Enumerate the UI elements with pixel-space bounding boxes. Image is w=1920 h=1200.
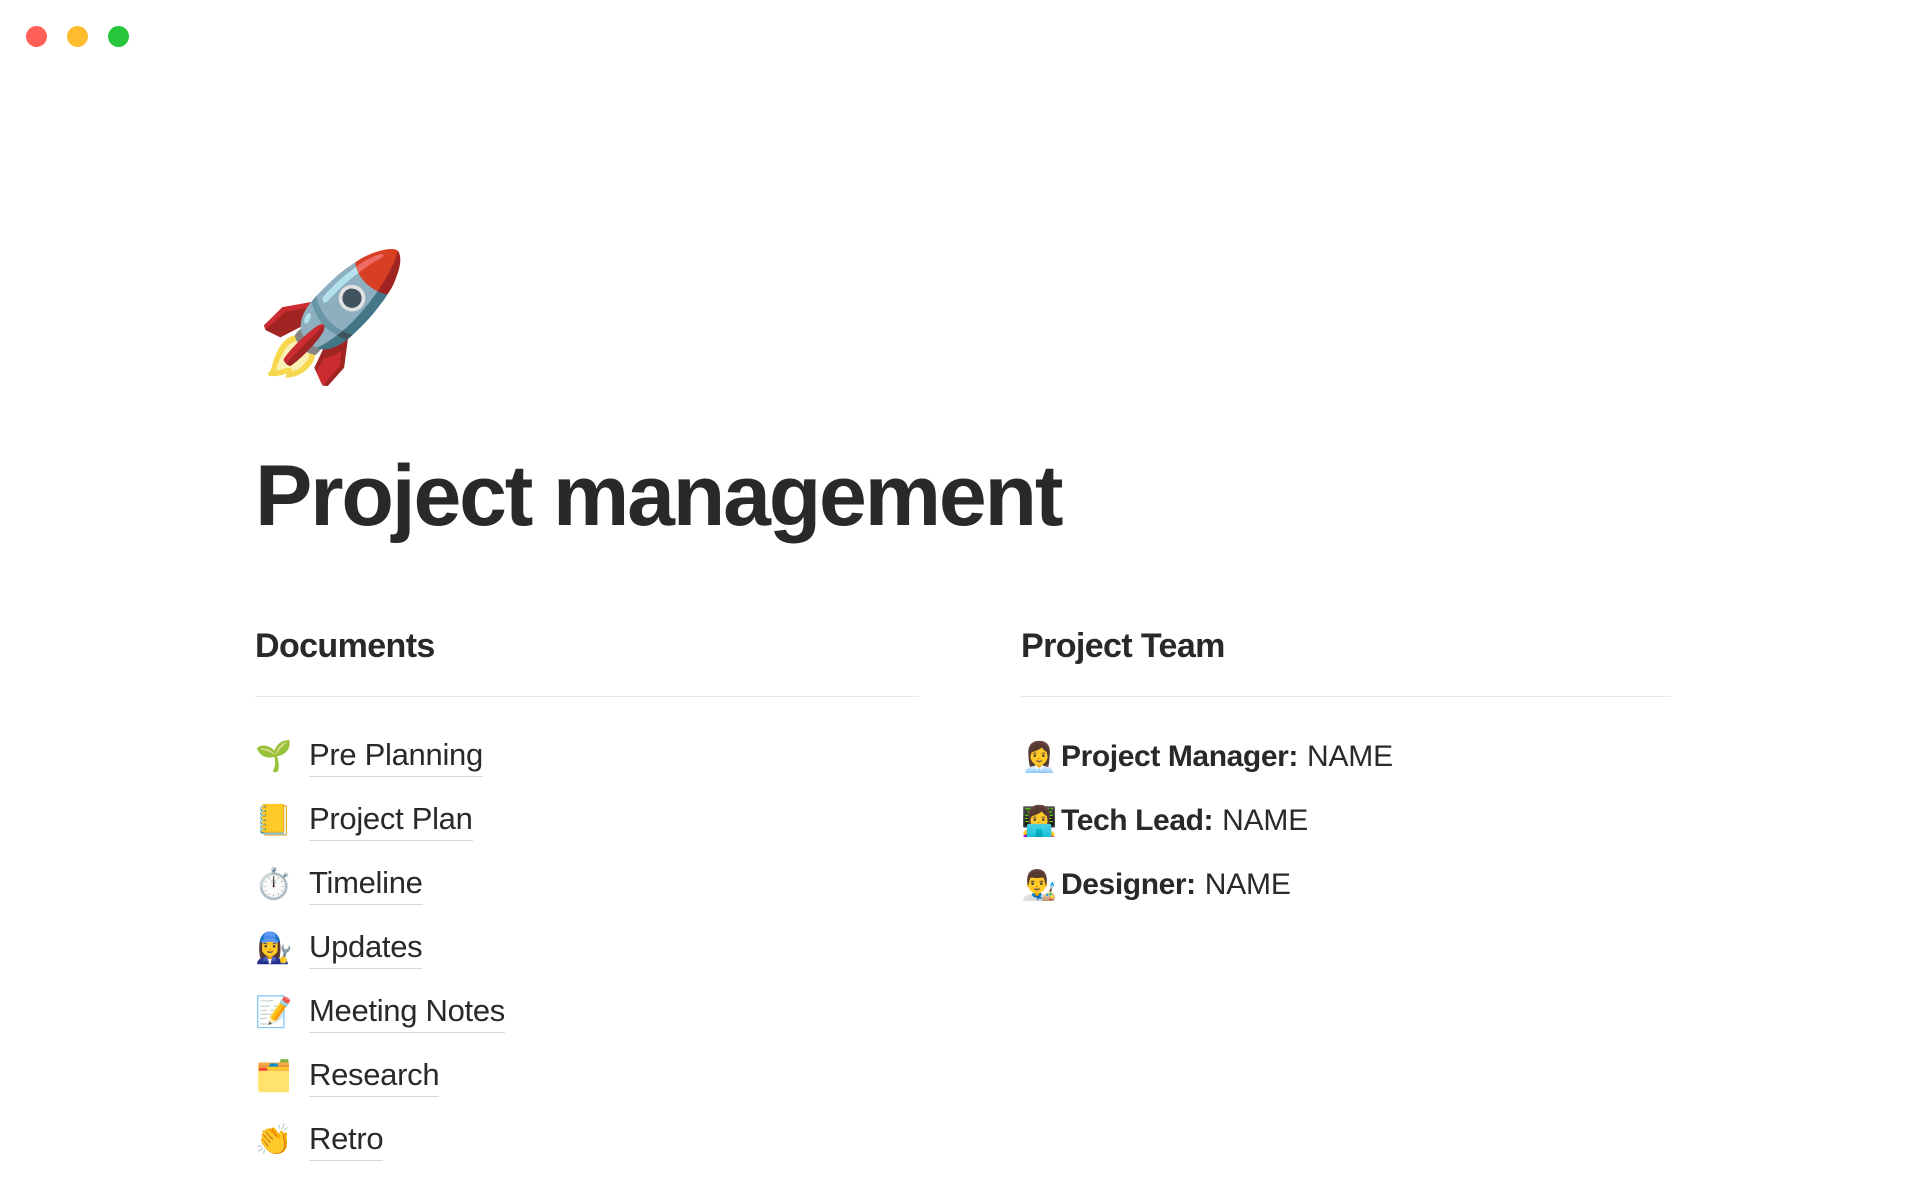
team-member-name[interactable]: NAME [1298,740,1393,774]
document-link-item[interactable]: 🗂️Research [255,1045,919,1109]
document-link-label[interactable]: Meeting Notes [309,993,505,1033]
woman-technologist-icon: 👩‍💻 [1021,807,1061,836]
team-member-role: Project Manager: [1061,740,1298,774]
team-member-role: Designer: [1061,868,1196,902]
memo-icon: 📝 [255,998,309,1028]
documents-column: Documents 🌱Pre Planning📒Project Plan⏱️Ti… [255,627,919,1173]
card-index-dividers-icon: 🗂️ [255,1062,309,1092]
team-member-row: 👩‍💻Tech Lead:NAME [1021,789,1671,853]
seedling-icon: 🌱 [255,742,309,772]
team-column: Project Team 👩‍💼Project Manager:NAME👩‍💻T… [1021,627,1671,1173]
team-member-row: 👨‍🎨Designer:NAME [1021,853,1671,917]
page-title[interactable]: Project management [255,451,1920,541]
document-page: 🚀 Project management Documents 🌱Pre Plan… [0,0,1920,1200]
document-link-item[interactable]: 🌱Pre Planning [255,725,919,789]
team-divider [1021,696,1671,697]
document-link-label[interactable]: Research [309,1057,439,1097]
rocket-emoji[interactable]: 🚀 [255,255,1920,423]
document-link-label[interactable]: Project Plan [309,801,473,841]
clapping-hands-icon: 👏 [255,1126,309,1156]
team-member-name[interactable]: NAME [1213,804,1308,838]
document-link-item[interactable]: 📝Meeting Notes [255,981,919,1045]
team-list: 👩‍💼Project Manager:NAME👩‍💻Tech Lead:NAME… [1021,725,1671,917]
notebook-icon: 📒 [255,806,309,836]
stopwatch-icon: ⏱️ [255,870,309,900]
woman-mechanic-icon: 👩‍🔧 [255,934,309,964]
team-member-name[interactable]: NAME [1196,868,1291,902]
team-heading: Project Team [1021,627,1671,666]
document-link-item[interactable]: ⏱️Timeline [255,853,919,917]
document-link-item[interactable]: 👏Retro [255,1109,919,1173]
content-columns: Documents 🌱Pre Planning📒Project Plan⏱️Ti… [255,627,1675,1173]
man-artist-icon: 👨‍🎨 [1021,871,1061,900]
documents-divider [255,696,919,697]
team-member-row: 👩‍💼Project Manager:NAME [1021,725,1671,789]
documents-heading: Documents [255,627,919,666]
team-member-role: Tech Lead: [1061,804,1213,838]
document-link-label[interactable]: Timeline [309,865,423,905]
document-link-label[interactable]: Pre Planning [309,737,483,777]
woman-office-worker-icon: 👩‍💼 [1021,743,1061,772]
documents-list: 🌱Pre Planning📒Project Plan⏱️Timeline👩‍🔧U… [255,725,919,1173]
document-link-item[interactable]: 👩‍🔧Updates [255,917,919,981]
document-link-label[interactable]: Retro [309,1121,383,1161]
document-link-item[interactable]: 📒Project Plan [255,789,919,853]
document-link-label[interactable]: Updates [309,929,422,969]
